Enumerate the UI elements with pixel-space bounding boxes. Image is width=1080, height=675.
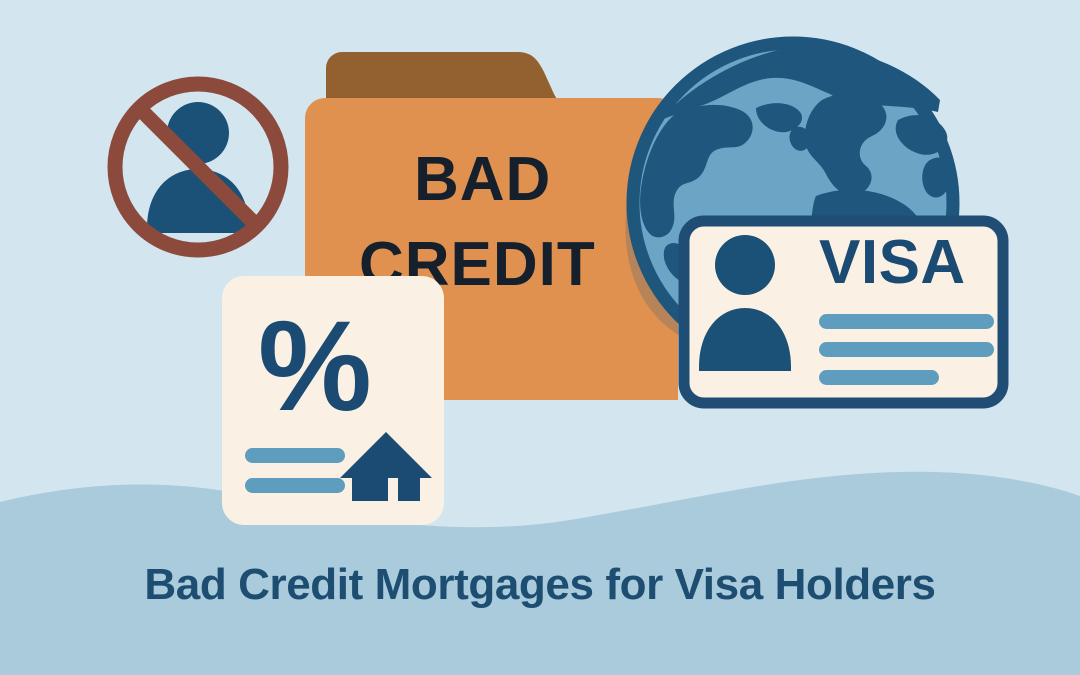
rate-line-1 (245, 448, 345, 463)
percent-symbol-icon: % (258, 295, 372, 438)
visa-card: VISA (684, 221, 1003, 403)
folder-label-bad: BAD (414, 145, 551, 214)
rate-card: % (222, 276, 444, 525)
rate-line-2 (245, 478, 345, 493)
visa-card-label: VISA (819, 228, 966, 297)
artwork-layer: BAD CREDIT (0, 0, 1080, 675)
card-line-1 (819, 314, 994, 329)
illustration-canvas: BAD CREDIT (0, 0, 1080, 675)
card-line-3 (819, 370, 939, 385)
prohibition-no-person-icon (115, 84, 281, 250)
visa-avatar-head-icon (715, 235, 775, 295)
card-line-2 (819, 342, 994, 357)
